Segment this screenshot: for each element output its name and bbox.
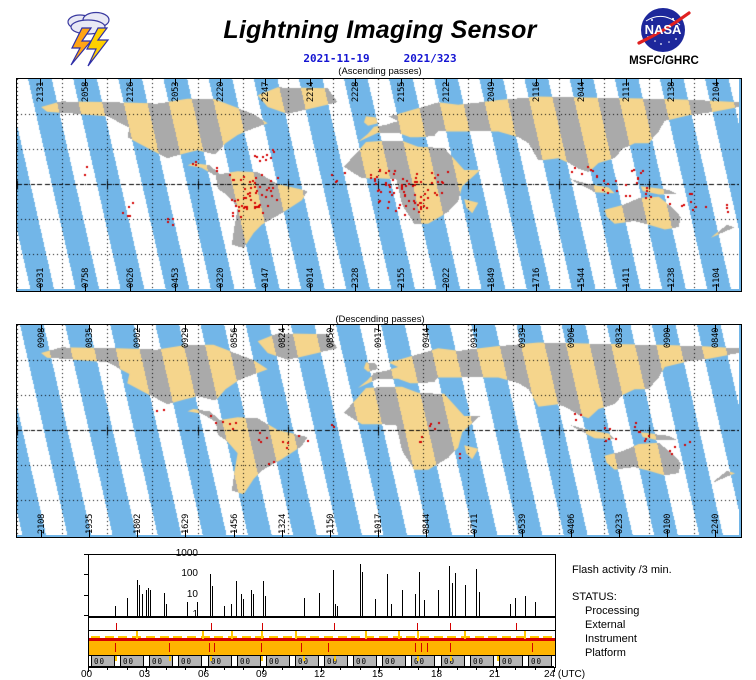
processing-status-spike [231, 631, 233, 639]
orbit-tick-bottom [310, 284, 311, 291]
orbit-time-label-top: 2228 [351, 82, 361, 102]
flash-activity-ytick [84, 574, 89, 575]
orbit-tick-top [85, 79, 86, 86]
date-doy: 2021/323 [404, 52, 457, 65]
orbit-tick-bottom [581, 284, 582, 291]
orbit-tick-top [175, 79, 176, 86]
flash-activity-bar [391, 604, 392, 616]
time-axis-tick [515, 667, 516, 670]
platform-status-spike [450, 656, 452, 661]
orbit-time-label-bottom: 1017 [374, 514, 384, 534]
orbit-time-label-bottom: 1411 [622, 268, 632, 288]
orbit-tick-top [626, 79, 627, 86]
flash-activity-bars [89, 555, 555, 616]
time-axis-label: 15 [372, 669, 383, 680]
status-marker [334, 623, 335, 630]
orbit-tick-top [571, 325, 572, 332]
orbit-tick-top [355, 79, 356, 86]
platform-status-spike [303, 656, 305, 661]
external-status-spike [450, 643, 451, 652]
instrument-status-segment [447, 636, 456, 638]
instrument-status-segment [105, 636, 114, 638]
time-axis-tick [224, 667, 225, 670]
orbit-time-label-bottom: 1238 [667, 268, 677, 288]
orbit-tick-top [185, 325, 186, 332]
orbit-time-label-bottom: 1629 [181, 514, 191, 534]
date-iso: 2021-11-19 [303, 52, 369, 65]
flash-activity-bar [375, 599, 376, 616]
orbit-time-label-top: 0835 [85, 328, 95, 348]
instrument-status-segment [434, 636, 443, 638]
orbit-time-label-bottom: 0233 [615, 514, 625, 534]
orbit-time-label-top: 0902 [133, 328, 143, 348]
instrument-status-segment [420, 636, 429, 638]
time-axis-label: 06 [198, 669, 209, 680]
external-status-spike [214, 643, 215, 652]
orbit-tick-bottom [185, 530, 186, 537]
orbit-tick-top [137, 325, 138, 332]
flash-activity-bar [419, 572, 420, 616]
processing-status-spike [464, 631, 466, 639]
orbit-time-label-bottom: 1104 [712, 268, 722, 288]
time-axis-tick [243, 667, 244, 670]
orbit-tick-bottom [667, 530, 668, 537]
date-line: 2021-11-192021/323 [180, 52, 580, 65]
platform-status-spike [497, 656, 499, 661]
processing-status-spike [261, 631, 263, 639]
orbit-time-label-bottom: 0147 [261, 268, 271, 288]
flash-activity-bar [243, 599, 244, 616]
orbit-tick-bottom [716, 284, 717, 291]
orbit-time-label-top: 2049 [487, 82, 497, 102]
time-axis-label: 24 (UTC) [544, 669, 585, 680]
orbit-tick-bottom [265, 284, 266, 291]
svg-text:NASA: NASA [645, 22, 682, 37]
orbit-tick-bottom [234, 530, 235, 537]
time-axis-label: 09 [256, 669, 267, 680]
ascending-caption: (Ascending passes) [180, 66, 580, 77]
instrument-status-segment [242, 636, 251, 638]
processing-status-spike [295, 631, 297, 639]
page-title: Lightning Imaging Sensor [180, 16, 580, 45]
time-axis-tick [399, 667, 400, 670]
orbit-tick-bottom [282, 530, 283, 537]
processing-status-spike [365, 631, 367, 639]
instrument-status-segment [310, 636, 319, 638]
status-row-processing [88, 617, 556, 631]
orbit-time-label-top: 2155 [397, 82, 407, 102]
orbit-tick-bottom [41, 530, 42, 537]
instrument-status-segment [406, 636, 415, 638]
external-status-spike [532, 643, 533, 652]
flash-activity-bar [148, 588, 149, 616]
orbit-time-label-top: 0824 [278, 328, 288, 348]
instrument-status-segment [283, 636, 292, 638]
orbit-time-label-bottom: 1935 [85, 514, 95, 534]
orbit-tick-top [401, 79, 402, 86]
flash-activity-ytick-label: 1000 [158, 548, 198, 559]
orbit-time-label-bottom: 2022 [442, 268, 452, 288]
instrument-status-segment [146, 636, 155, 638]
external-status-spike [169, 643, 170, 652]
orbit-time-label-top: 2111 [622, 82, 632, 102]
orbit-time-label-bottom: 0931 [36, 268, 46, 288]
orbit-time-label-bottom: 2108 [37, 514, 47, 534]
status-marker [116, 623, 117, 630]
flash-activity-bar [335, 604, 336, 616]
orbit-tick-bottom [330, 530, 331, 537]
orbit-time-label-bottom: 0453 [171, 268, 181, 288]
external-status-spike [328, 643, 329, 652]
orbit-tick-top [330, 325, 331, 332]
orbit-tick-top [716, 79, 717, 86]
instrument-status-segment [338, 636, 347, 638]
flash-activity-bar [265, 596, 266, 616]
flash-activity-bar [115, 606, 116, 616]
instrument-status-segment [502, 636, 511, 638]
flash-activity-bar [455, 573, 456, 616]
orbit-time-label-bottom: 0711 [470, 514, 480, 534]
orbit-tick-bottom [619, 530, 620, 537]
platform-status-spike [210, 656, 212, 661]
instrument-status-segment [324, 636, 333, 638]
orbit-time-label-top: 0944 [422, 328, 432, 348]
status-marker [262, 623, 263, 630]
flash-activity-bar [251, 590, 252, 616]
time-axis-label: 03 [139, 669, 150, 680]
processing-status-spike [136, 631, 138, 639]
time-axis-tick [282, 667, 283, 670]
flash-activity-bar [415, 594, 416, 616]
orbit-time-label-bottom: 0626 [126, 268, 136, 288]
orbit-tick-bottom [85, 284, 86, 291]
external-status-spike [421, 643, 422, 652]
orbit-tick-bottom [571, 530, 572, 537]
orbit-time-label-top: 2044 [577, 82, 587, 102]
time-axis-tick [127, 667, 128, 670]
time-axis-tick [302, 667, 303, 670]
flash-activity-bar [515, 598, 516, 616]
processing-status-spike [524, 631, 526, 639]
orbit-time-label-top: 2104 [712, 82, 722, 102]
orbit-time-label-bottom: 1802 [133, 514, 143, 534]
orbit-time-label-bottom: 1456 [230, 514, 240, 534]
time-axis-tick [360, 667, 361, 670]
flash-activity-bar [337, 606, 338, 616]
flash-activity-bar [402, 590, 403, 616]
orbit-time-label-top: 0900 [663, 328, 673, 348]
timeseries-panel: 1000100101 00000000000000000000000000000… [0, 545, 756, 680]
flash-activity-bar [142, 594, 143, 616]
orbit-time-label-top: 0840 [711, 328, 721, 348]
orbit-time-label-top: 2247 [261, 82, 271, 102]
legend-status-external: External [572, 618, 672, 632]
flash-activity-bar [535, 602, 536, 616]
orbit-tick-bottom [89, 530, 90, 537]
platform-status-band [89, 641, 555, 655]
orbit-tick-top [282, 325, 283, 332]
orbit-tick-bottom [130, 284, 131, 291]
orbit-time-label-top: 0833 [615, 328, 625, 348]
orbit-time-label-bottom: 2328 [351, 268, 361, 288]
orbit-tick-bottom [175, 284, 176, 291]
time-axis-tick [476, 667, 477, 670]
orbit-time-label-top: 2116 [532, 82, 542, 102]
orbit-tick-top [536, 79, 537, 86]
orbit-tick-top [474, 325, 475, 332]
orbit-time-label-bottom: 2240 [711, 514, 721, 534]
instrument-status-segment [488, 636, 497, 638]
orbit-tick-bottom [626, 284, 627, 291]
orbit-tick-bottom [536, 284, 537, 291]
instrument-status-segment [297, 636, 306, 638]
instrument-status-segment [530, 636, 539, 638]
orbit-tick-bottom [491, 284, 492, 291]
orbit-time-label-top: 2138 [667, 82, 677, 102]
flash-activity-bar [241, 594, 242, 616]
external-status-spike [415, 643, 416, 652]
map-canvas-ascending: 2131205821262053222022472214222821552122… [17, 79, 741, 291]
flash-activity-ytick-label: 100 [158, 568, 198, 579]
orbit-time-label-bottom: 1324 [278, 514, 288, 534]
flash-activity-bar [452, 583, 453, 616]
status-marker [450, 623, 451, 630]
flash-activity-bar [150, 590, 151, 616]
flash-activity-bar [139, 585, 140, 616]
orbit-tick-top [265, 79, 266, 86]
descending-pass-map[interactable]: 0908083509020929085608240850091709440911… [16, 324, 742, 538]
instrument-status-segment [351, 636, 360, 638]
orbit-time-label-top: 0911 [470, 328, 480, 348]
thunderstorm-icon [58, 8, 128, 68]
orbit-tick-top [130, 79, 131, 86]
orbit-tick-bottom [474, 530, 475, 537]
orbit-time-label-top: 0929 [181, 328, 191, 348]
agency-label: MSFC/GHRC [612, 55, 716, 67]
orbit-time-label-bottom: 0100 [663, 514, 673, 534]
orbit-time-label-top: 0939 [518, 328, 528, 348]
orbit-tick-top [715, 325, 716, 332]
flash-activity-bar [438, 590, 439, 616]
instrument-status-segment [475, 636, 484, 638]
time-axis-tick [107, 667, 108, 670]
processing-status-spike [417, 631, 419, 639]
platform-status-spike [417, 656, 419, 661]
orbit-tick-bottom [671, 284, 672, 291]
flash-activity-ytick-label: 10 [158, 589, 198, 600]
external-status-spike [209, 643, 210, 652]
page-header: Lightning Imaging Sensor 2021-11-192021/… [0, 0, 756, 76]
flash-activity-ytick [84, 554, 89, 555]
processing-status-spike [398, 631, 400, 639]
orbit-tick-top [234, 325, 235, 332]
time-axis-label: 18 [431, 669, 442, 680]
flash-activity-bar [362, 572, 363, 616]
orbit-tick-bottom [137, 530, 138, 537]
flash-activity-bar [210, 574, 211, 616]
orbit-tick-top [671, 79, 672, 86]
processing-status-spike [202, 631, 204, 639]
status-marker [211, 623, 212, 630]
orbit-tick-top [667, 325, 668, 332]
flash-activity-ytick [84, 615, 89, 616]
orbit-time-label-bottom: 2155 [397, 268, 407, 288]
time-axis-label: 00 [81, 669, 92, 680]
flash-activity-bar [146, 590, 147, 616]
legend-status-processing: Processing [572, 604, 672, 618]
orbit-tick-top [41, 325, 42, 332]
external-status-spike [427, 643, 428, 652]
platform-status-spike [169, 656, 171, 661]
orbit-tick-top [310, 79, 311, 86]
orbit-time-label-top: 0906 [567, 328, 577, 348]
orbit-tick-bottom [446, 284, 447, 291]
status-marker [516, 623, 517, 630]
orbit-time-label-top: 0856 [230, 328, 240, 348]
platform-status-spike [261, 656, 263, 661]
instrument-status-segment [91, 636, 100, 638]
legend-status-instrument: Instrument [572, 632, 672, 646]
map-canvas-descending: 0908083509020929085608240850091709440911… [17, 325, 741, 537]
legend-block: Flash activity /3 min. STATUS: Processin… [572, 563, 672, 660]
orbit-time-label-top: 0850 [326, 328, 336, 348]
orbit-time-label-bottom: 1849 [487, 268, 497, 288]
orbit-tick-top [426, 325, 427, 332]
legend-status-title: STATUS: [572, 590, 672, 604]
orbit-time-label-bottom: 0844 [422, 514, 432, 534]
flash-activity-ytick [84, 595, 89, 596]
orbit-time-label-top: 2053 [171, 82, 181, 102]
orbit-time-label-bottom: 0320 [216, 268, 226, 288]
orbit-time-label-bottom: 1150 [326, 514, 336, 534]
orbit-tick-bottom [220, 284, 221, 291]
external-status-band [89, 638, 555, 641]
instrument-status-segment [173, 636, 182, 638]
flash-activity-bar [236, 581, 237, 616]
ascending-pass-map[interactable]: 2131205821262053222022472214222821552122… [16, 78, 742, 292]
orbit-tick-top [581, 79, 582, 86]
orbit-time-label-top: 0908 [37, 328, 47, 348]
orbit-time-label-bottom: 0014 [306, 268, 316, 288]
orbit-time-label-top: 2220 [216, 82, 226, 102]
flash-activity-bar [253, 594, 254, 616]
time-axis-tick [340, 667, 341, 670]
flash-activity-bar [510, 604, 511, 616]
time-axis-tick [457, 667, 458, 670]
instrument-status-segment [160, 636, 169, 638]
time-axis-tick [185, 667, 186, 670]
orbit-tick-bottom [378, 530, 379, 537]
legend-status-platform: Platform [572, 646, 672, 660]
orbit-tick-bottom [40, 284, 41, 291]
flash-activity-bar [333, 570, 334, 616]
flash-activity-bar [127, 598, 128, 616]
flash-activity-bar [304, 598, 305, 616]
legend-flash-activity: Flash activity /3 min. [572, 563, 672, 577]
time-axis-label: 12 [314, 669, 325, 680]
orbit-tick-bottom [715, 530, 716, 537]
lis-daily-summary-page: Lightning Imaging Sensor 2021-11-192021/… [0, 0, 756, 680]
instrument-status-segment [379, 636, 388, 638]
flash-activity-bar [449, 566, 450, 616]
flash-activity-bar [465, 585, 466, 616]
flash-activity-bar [231, 604, 232, 616]
flash-activity-bar [479, 592, 480, 616]
orbit-tick-top [491, 79, 492, 86]
orbit-tick-top [378, 325, 379, 332]
orbit-time-label-bottom: 0539 [518, 514, 528, 534]
orbit-time-label-top: 2122 [442, 82, 452, 102]
status-marker [417, 623, 418, 630]
external-status-spike [115, 643, 116, 652]
orbit-tick-top [522, 325, 523, 332]
flash-activity-bar [137, 580, 138, 616]
orbit-tick-top [619, 325, 620, 332]
orbit-time-label-top: 2214 [306, 82, 316, 102]
orbit-time-label-bottom: 0406 [567, 514, 577, 534]
orbit-tick-bottom [522, 530, 523, 537]
orbit-time-label-top: 0917 [374, 328, 384, 348]
instrument-status-segment [118, 636, 127, 638]
time-axis-label: 21 [489, 669, 500, 680]
instrument-status-segment [214, 636, 223, 638]
flash-activity-plot[interactable] [88, 554, 556, 617]
instrument-status-segment [187, 636, 196, 638]
time-axis-tick [418, 667, 419, 670]
orbit-tick-top [89, 325, 90, 332]
orbit-time-label-top: 2126 [126, 82, 136, 102]
flash-activity-bar [263, 581, 264, 616]
orbit-time-label-bottom: 1544 [577, 268, 587, 288]
platform-status-spike [115, 656, 117, 661]
flash-activity-bar [387, 574, 388, 616]
time-axis-tick [535, 667, 536, 670]
orbit-tick-top [220, 79, 221, 86]
flash-activity-bar [360, 564, 361, 616]
orbit-tick-bottom [355, 284, 356, 291]
flash-activity-bar [224, 606, 225, 616]
orbit-time-label-bottom: 1716 [532, 268, 542, 288]
status-row-external-instrument [88, 630, 556, 656]
flash-activity-bar [424, 600, 425, 616]
instrument-status-segment [543, 636, 552, 638]
orbit-tick-bottom [401, 284, 402, 291]
nasa-meatball-logo: NASA [628, 6, 698, 54]
flash-activity-bar [476, 569, 477, 616]
flash-activity-bar [319, 593, 320, 616]
time-axis-tick [166, 667, 167, 670]
flash-activity-bar [212, 586, 213, 616]
orbit-time-label-top: 2131 [36, 82, 46, 102]
flash-activity-bar [525, 596, 526, 616]
external-status-spike [301, 643, 302, 652]
external-status-spike [261, 643, 262, 652]
orbit-time-label-top: 2058 [81, 82, 91, 102]
orbit-tick-top [40, 79, 41, 86]
orbit-time-label-bottom: 0758 [81, 268, 91, 288]
orbit-tick-bottom [426, 530, 427, 537]
instrument-status-segment [269, 636, 278, 638]
platform-status-spike [334, 656, 336, 661]
orbit-tick-top [446, 79, 447, 86]
